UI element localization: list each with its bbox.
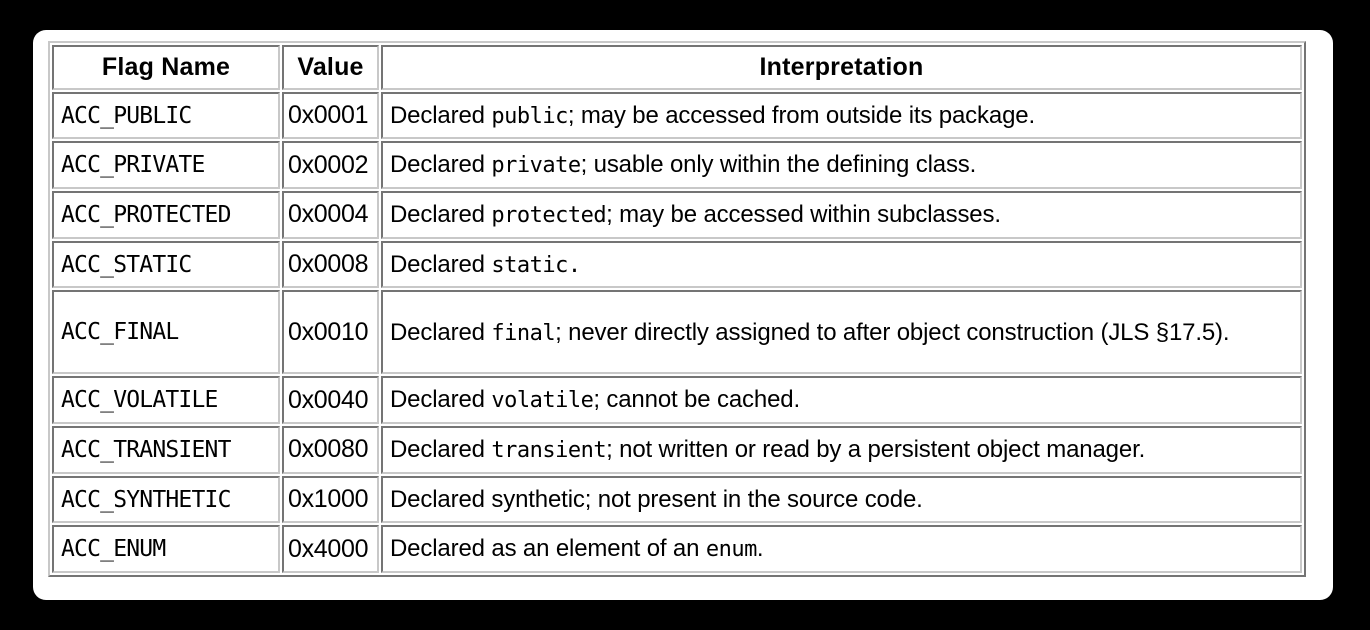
interpretation-text: Declared — [390, 201, 491, 228]
java-keyword: private — [491, 153, 580, 178]
table-row: ACC_STATIC0x0008Declared static. — [52, 241, 1302, 289]
cell-value: 0x0010 — [282, 290, 379, 374]
table-row: ACC_FINAL0x0010Declared final; never dir… — [52, 290, 1302, 374]
cell-value: 0x0080 — [282, 426, 379, 474]
cell-value: 0x0040 — [282, 376, 379, 424]
interpretation-text: Declared — [390, 386, 491, 413]
java-keyword: transient — [491, 438, 606, 463]
java-keyword: protected — [491, 203, 606, 228]
table-row: ACC_PRIVATE0x0002Declared private; usabl… — [52, 141, 1302, 189]
access-flags-table: Flag Name Value Interpretation ACC_PUBLI… — [48, 41, 1306, 577]
column-header-value: Value — [282, 45, 379, 90]
table-row: ACC_PUBLIC0x0001Declared public; may be … — [52, 92, 1302, 140]
java-keyword: enum — [706, 537, 757, 562]
page-root: Flag Name Value Interpretation ACC_PUBLI… — [0, 0, 1370, 630]
cell-flag-name: ACC_STATIC — [52, 241, 280, 289]
java-keyword: static. — [491, 253, 580, 278]
table-body: ACC_PUBLIC0x0001Declared public; may be … — [52, 92, 1302, 573]
interpretation-text: Declared — [390, 319, 491, 346]
table-header: Flag Name Value Interpretation — [52, 45, 1302, 90]
cell-flag-name: ACC_PRIVATE — [52, 141, 280, 189]
table-row: ACC_ENUM0x4000Declared as an element of … — [52, 525, 1302, 573]
cell-flag-name: ACC_PUBLIC — [52, 92, 280, 140]
table-row: ACC_VOLATILE0x0040Declared volatile; can… — [52, 376, 1302, 424]
cell-interpretation: Declared transient; not written or read … — [381, 426, 1302, 474]
interpretation-text: ; cannot be cached. — [593, 386, 800, 413]
cell-interpretation: Declared private; usable only within the… — [381, 141, 1302, 189]
table-header-row: Flag Name Value Interpretation — [52, 45, 1302, 90]
cell-flag-name: ACC_TRANSIENT — [52, 426, 280, 474]
java-keyword: final — [491, 321, 555, 346]
interpretation-text: ; not written or read by a persistent ob… — [606, 436, 1145, 463]
interpretation-text: Declared — [390, 151, 491, 178]
cell-flag-name: ACC_ENUM — [52, 525, 280, 573]
java-keyword: public — [491, 104, 567, 129]
cell-interpretation: Declared static. — [381, 241, 1302, 289]
interpretation-text: Declared synthetic; not present in the s… — [390, 486, 923, 513]
interpretation-text: ; never directly assigned to after objec… — [555, 319, 1229, 346]
cell-interpretation: Declared synthetic; not present in the s… — [381, 476, 1302, 524]
cell-flag-name: ACC_SYNTHETIC — [52, 476, 280, 524]
java-keyword: volatile — [491, 388, 593, 413]
interpretation-text: Declared — [390, 436, 491, 463]
column-header-interpretation: Interpretation — [381, 45, 1302, 90]
interpretation-text: Declared — [390, 251, 491, 278]
cell-interpretation: Declared protected; may be accessed with… — [381, 191, 1302, 239]
cell-flag-name: ACC_FINAL — [52, 290, 280, 374]
cell-interpretation: Declared volatile; cannot be cached. — [381, 376, 1302, 424]
cell-value: 0x0004 — [282, 191, 379, 239]
cell-flag-name: ACC_PROTECTED — [52, 191, 280, 239]
interpretation-text: ; usable only within the defining class. — [581, 151, 977, 178]
interpretation-text: Declared as an element of an — [390, 535, 706, 562]
cell-value: 0x0002 — [282, 141, 379, 189]
interpretation-text: . — [757, 535, 764, 562]
cell-value: 0x0008 — [282, 241, 379, 289]
cell-flag-name: ACC_VOLATILE — [52, 376, 280, 424]
interpretation-text: ; may be accessed from outside its packa… — [568, 102, 1035, 129]
cell-value: 0x1000 — [282, 476, 379, 524]
cell-interpretation: Declared public; may be accessed from ou… — [381, 92, 1302, 140]
column-header-flag-name: Flag Name — [52, 45, 280, 90]
cell-value: 0x0001 — [282, 92, 379, 140]
cell-interpretation: Declared as an element of an enum. — [381, 525, 1302, 573]
cell-interpretation: Declared final; never directly assigned … — [381, 290, 1302, 374]
cell-value: 0x4000 — [282, 525, 379, 573]
table-row: ACC_TRANSIENT0x0080Declared transient; n… — [52, 426, 1302, 474]
table-row: ACC_PROTECTED0x0004Declared protected; m… — [52, 191, 1302, 239]
table-row: ACC_SYNTHETIC0x1000Declared synthetic; n… — [52, 476, 1302, 524]
interpretation-text: ; may be accessed within subclasses. — [606, 201, 1001, 228]
interpretation-text: Declared — [390, 102, 491, 129]
